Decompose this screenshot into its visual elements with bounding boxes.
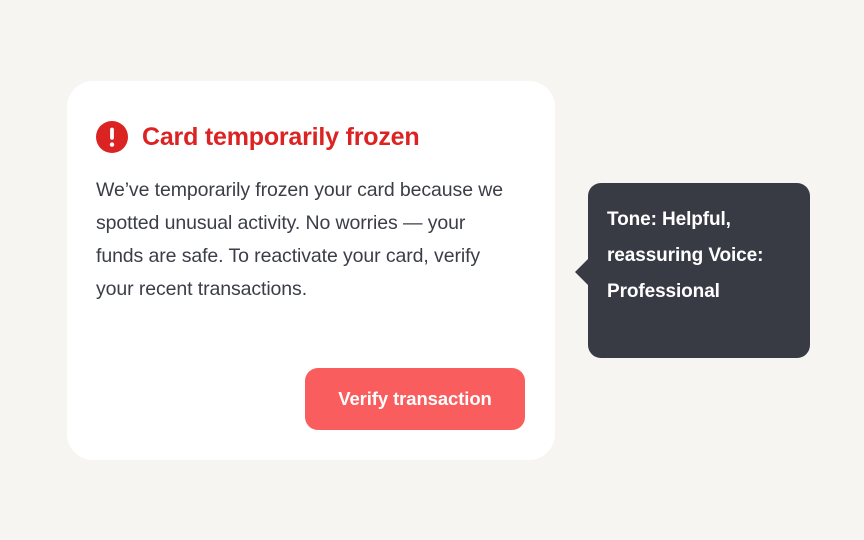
tone-voice-tooltip: Tone: Helpful, reassuring Voice: Profess… [588,183,810,358]
verify-transaction-button[interactable]: Verify transaction [305,368,525,430]
tooltip-text: Tone: Helpful, reassuring Voice: Profess… [607,202,794,310]
page-title: Card temporarily frozen [142,125,419,150]
tooltip-tail-icon [575,258,589,286]
card-header: Card temporarily frozen [96,121,419,153]
alert-exclamation-circle-icon [96,121,128,153]
card-body-text: We’ve temporarily frozen your card becau… [96,174,508,306]
notification-card: Card temporarily frozen We’ve temporaril… [67,81,555,460]
